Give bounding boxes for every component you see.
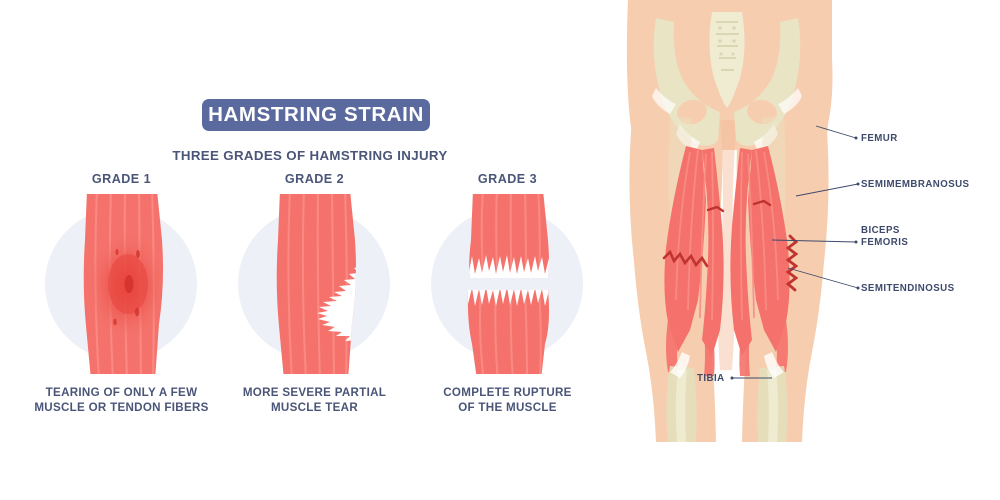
- grade-illustration-1: [25, 194, 218, 374]
- grade-caption-1-line1: TEARING OF ONLY A FEW: [25, 386, 218, 401]
- grade-label-2: GRADE 2: [218, 170, 411, 188]
- label-biceps-femoris-line1: BICEPS: [861, 225, 908, 237]
- grade-caption-1: TEARING OF ONLY A FEW MUSCLE OR TENDON F…: [25, 386, 218, 415]
- grade-caption-3-line2: OF THE MUSCLE: [411, 401, 604, 416]
- grade-caption-3: COMPLETE RUPTURE OF THE MUSCLE: [411, 386, 604, 415]
- grade-column-3: GRADE 3: [411, 170, 604, 415]
- label-biceps-femoris-line2: FEMORIS: [861, 237, 908, 249]
- grade-column-2: GRADE 2: [218, 170, 411, 415]
- grade-column-1: GRADE 1: [25, 170, 218, 415]
- grade-caption-2-line2: MUSCLE TEAR: [218, 401, 411, 416]
- anatomy-panel: FEMUR SEMIMEMBRANOSUS BICEPS FEMORIS SEM…: [620, 0, 1000, 500]
- subtitle-text: THREE GRADES OF HAMSTRING INJURY: [0, 148, 620, 163]
- grade-caption-2: MORE SEVERE PARTIAL MUSCLE TEAR: [218, 386, 411, 415]
- grade-caption-2-line1: MORE SEVERE PARTIAL: [218, 386, 411, 401]
- infographic-root: HAMSTRING STRAIN THREE GRADES OF HAMSTRI…: [0, 0, 1000, 500]
- grades-panel: HAMSTRING STRAIN THREE GRADES OF HAMSTRI…: [0, 0, 620, 500]
- grade-illustration-2: [218, 194, 411, 374]
- label-biceps-femoris: BICEPS FEMORIS: [861, 225, 908, 248]
- label-tibia: TIBIA: [697, 373, 725, 385]
- grade-caption-3-line1: COMPLETE RUPTURE: [411, 386, 604, 401]
- label-femur: FEMUR: [861, 133, 898, 145]
- grade-label-1: GRADE 1: [25, 170, 218, 188]
- anatomy-illustration: [620, 0, 1000, 500]
- title-text: HAMSTRING STRAIN: [208, 103, 424, 127]
- label-semimembranosus: SEMIMEMBRANOSUS: [861, 179, 969, 191]
- grade-caption-1-line2: MUSCLE OR TENDON FIBERS: [25, 401, 218, 416]
- grade-label-3: GRADE 3: [411, 170, 604, 188]
- title-banner: HAMSTRING STRAIN: [202, 99, 430, 131]
- label-semitendinosus: SEMITENDINOSUS: [861, 283, 955, 295]
- grade-illustration-3: [411, 194, 604, 374]
